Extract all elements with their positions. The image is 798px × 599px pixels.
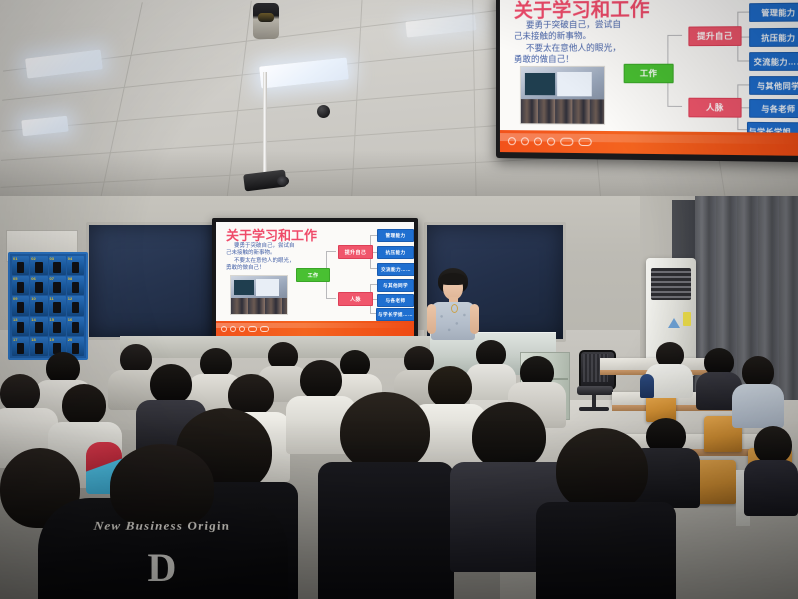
student-head <box>150 364 192 404</box>
slide-node-root: 工作 <box>624 64 674 84</box>
slide-footer-bar <box>500 130 798 156</box>
pocket-number: 02 <box>31 256 35 261</box>
slide-node-leaf: 与学长学姐…… <box>376 308 414 321</box>
control-pill-icon[interactable] <box>560 138 573 146</box>
pocket-slot[interactable]: 06 <box>30 276 47 295</box>
camera-lens-icon <box>258 13 274 22</box>
control-dot-icon[interactable] <box>508 137 516 145</box>
pocket-number: 05 <box>13 276 17 281</box>
pocket-number: 13 <box>13 317 17 322</box>
control-dot-icon[interactable] <box>534 137 542 145</box>
slide-title: 关于学习和工作 <box>226 225 317 244</box>
blackboard-left <box>86 222 216 340</box>
pocket-number: 10 <box>31 296 35 301</box>
pocket-slot[interactable]: 01 <box>12 256 29 275</box>
phone-icon <box>17 282 25 293</box>
pocket-slot[interactable]: 08 <box>67 276 84 295</box>
wall-display[interactable]: 关于学习和工作 要勇于突破自己，尝试自 己未接触的新事物。 不要太在意他人的眼光… <box>496 0 798 162</box>
slide-wall: 关于学习和工作 要勇于突破自己，尝试自 己未接触的新事物。 不要太在意他人的眼光… <box>500 0 798 156</box>
slide-node-branch: 人脉 <box>688 98 741 118</box>
slide-node-leaf: 抗压能力 <box>377 246 414 259</box>
student-head <box>300 360 342 400</box>
student-body-foreground <box>536 502 676 599</box>
slide-body: 要勇于突破自己，尝试自 己未接触的新事物。 不要太在意他人的眼光， 勇敢的做自己… <box>514 19 647 66</box>
slide-body-line: 己未接触的新事物。 <box>514 30 647 42</box>
slide-node-leaf: 管理能力 <box>749 3 798 22</box>
pocket-slot[interactable]: 10 <box>30 296 47 315</box>
pocket-number: 16 <box>68 317 72 322</box>
hoodie-head <box>110 444 214 528</box>
pocket-number: 12 <box>68 296 72 301</box>
phone-icon <box>72 302 80 313</box>
student-head-foreground <box>340 392 430 472</box>
slide-node-branch: 提升自己 <box>338 245 373 259</box>
slide-node-leaf: 与其他同学 <box>377 279 414 292</box>
pocket-slot[interactable]: 05 <box>12 276 29 295</box>
slide-body-line: 要勇于突破自己，尝试自 <box>514 19 647 32</box>
pocket-slot[interactable]: 04 <box>67 256 84 275</box>
connector <box>667 35 682 36</box>
hoodie-print-text: New Business Origin <box>60 519 263 534</box>
phone-icon <box>53 262 61 273</box>
student-body <box>744 460 798 516</box>
student-foreground-hoodie: New Business Origin D <box>18 470 308 599</box>
slide-node-leaf: 与其他同学 <box>749 76 798 95</box>
pocket-slot[interactable]: 09 <box>12 296 29 315</box>
student-head <box>62 384 106 426</box>
pocket-number: 11 <box>50 296 54 301</box>
slide-node-leaf: 交流能力…… <box>377 263 414 276</box>
pocket-number: 01 <box>13 256 17 261</box>
projector-lens-icon <box>277 176 289 186</box>
phone-icon <box>17 262 25 273</box>
pocket-number: 14 <box>31 317 35 322</box>
control-dot-icon[interactable] <box>521 137 529 145</box>
connector <box>667 106 682 107</box>
pocket-number: 15 <box>50 317 54 322</box>
slide-projected: 关于学习和工作 要勇于突破自己，尝试自 己未接触的新事物。 不要太在意他人的眼光… <box>216 222 414 336</box>
projector-mount-pole <box>263 72 267 180</box>
slide-node-leaf: 交流能力…… <box>749 52 798 71</box>
classroom-scene: 关于学习和工作 要勇于突破自己，尝试自 己未接触的新事物。 不要太在意他人的眼光… <box>0 0 798 599</box>
pocket-slot[interactable]: 11 <box>49 296 66 315</box>
student-head-foreground <box>556 428 648 512</box>
pocket-number: 07 <box>50 276 54 281</box>
pocket-number: 03 <box>50 256 54 261</box>
student-body <box>732 384 784 428</box>
wall-display-screen: 关于学习和工作 要勇于突破自己，尝试自 己未接触的新事物。 不要太在意他人的眼光… <box>500 0 798 156</box>
pocket-number: 09 <box>13 296 17 301</box>
control-pill-icon[interactable] <box>578 138 591 146</box>
pocket-slot[interactable]: 07 <box>49 276 66 295</box>
slide-node-root: 工作 <box>296 268 330 282</box>
necklace-icon <box>451 304 458 313</box>
phone-icon <box>72 262 80 273</box>
slide-photo <box>230 275 288 315</box>
slide-node-branch: 人脉 <box>338 292 373 306</box>
student-head-foreground <box>472 402 546 470</box>
phone-icon <box>35 302 43 313</box>
phone-icon <box>72 282 80 293</box>
phone-icon <box>35 282 43 293</box>
slide-body-line: 己未接触的新事物。 <box>226 250 314 257</box>
pocket-slot[interactable]: 03 <box>49 256 66 275</box>
pocket-slot[interactable]: 12 <box>67 296 84 315</box>
student-head <box>428 366 472 408</box>
slide-control-bar[interactable] <box>508 137 592 146</box>
pocket-number: 06 <box>31 276 35 281</box>
slide-node-leaf: 抗压能力 <box>749 28 798 47</box>
pocket-number: 08 <box>68 276 72 281</box>
student-body-foreground <box>318 462 454 599</box>
presenter-hair-front <box>440 273 466 285</box>
slide-node-leaf: 与各老师 <box>377 294 414 307</box>
slide-body-line: 不要太在意他人的眼光， <box>514 42 647 54</box>
student-sleeve <box>640 374 654 398</box>
ac-sticker <box>683 312 691 326</box>
student-head <box>754 426 792 464</box>
pocket-slot[interactable]: 02 <box>30 256 47 275</box>
desk-row <box>620 434 770 449</box>
slide-node-branch: 提升自己 <box>688 26 741 46</box>
slide-node-leaf: 管理能力 <box>377 229 414 242</box>
projection-screen[interactable]: 关于学习和工作 要勇于突破自己，尝试自 己未接触的新事物。 不要太在意他人的眼光… <box>212 218 418 340</box>
ac-vent-icon <box>651 268 691 300</box>
slide-photo <box>520 66 605 125</box>
pocket-number: 04 <box>68 256 72 261</box>
dome-camera-icon <box>317 105 330 118</box>
control-dot-icon[interactable] <box>547 138 555 146</box>
hoodie-logo: D <box>136 542 188 594</box>
phone-icon <box>53 302 61 313</box>
phone-icon <box>35 262 43 273</box>
student-head <box>0 374 40 412</box>
slide-node-leaf: 与各老师 <box>749 99 798 118</box>
phone-icon <box>17 302 25 313</box>
projection-screen-surface: 关于学习和工作 要勇于突破自己，尝试自 己未接触的新事物。 不要太在意他人的眼光… <box>216 222 414 336</box>
phone-icon <box>53 282 61 293</box>
